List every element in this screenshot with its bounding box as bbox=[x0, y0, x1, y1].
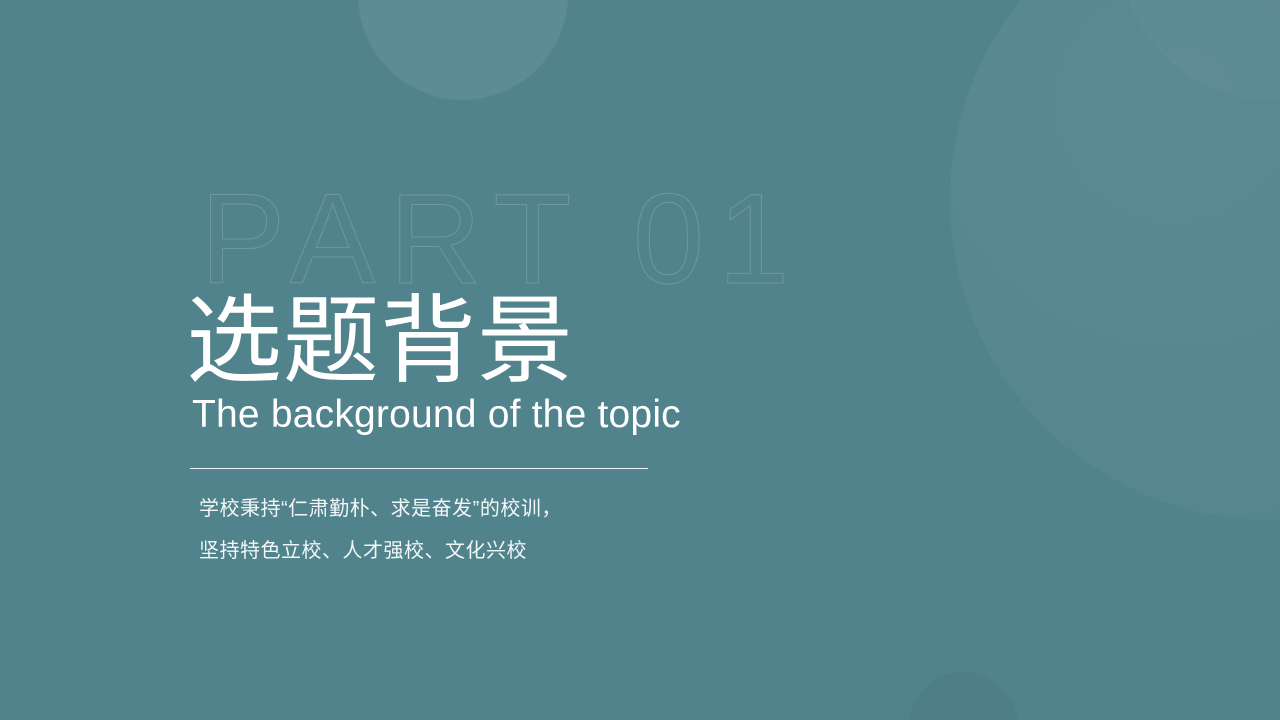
presentation-slide: PART 01 选题背景 The background of the topic… bbox=[0, 0, 1280, 720]
body-line-2: 坚持特色立校、人才强校、文化兴校 bbox=[199, 530, 899, 572]
section-part-label: PART 01 bbox=[200, 176, 803, 304]
small-dark-circle-icon bbox=[908, 672, 1018, 720]
small-light-circle-icon bbox=[358, 0, 568, 100]
divider bbox=[190, 468, 648, 469]
corner-circle-icon bbox=[1120, 0, 1280, 100]
page-subtitle: The background of the topic bbox=[192, 394, 681, 437]
page-title: 选题背景 bbox=[186, 294, 574, 390]
body-line-1: 学校秉持“仁肃勤朴、求是奋发”的校训， bbox=[199, 488, 899, 530]
large-faint-circle-icon bbox=[950, 0, 1280, 520]
body-paragraph: 学校秉持“仁肃勤朴、求是奋发”的校训， 坚持特色立校、人才强校、文化兴校 bbox=[199, 488, 899, 572]
